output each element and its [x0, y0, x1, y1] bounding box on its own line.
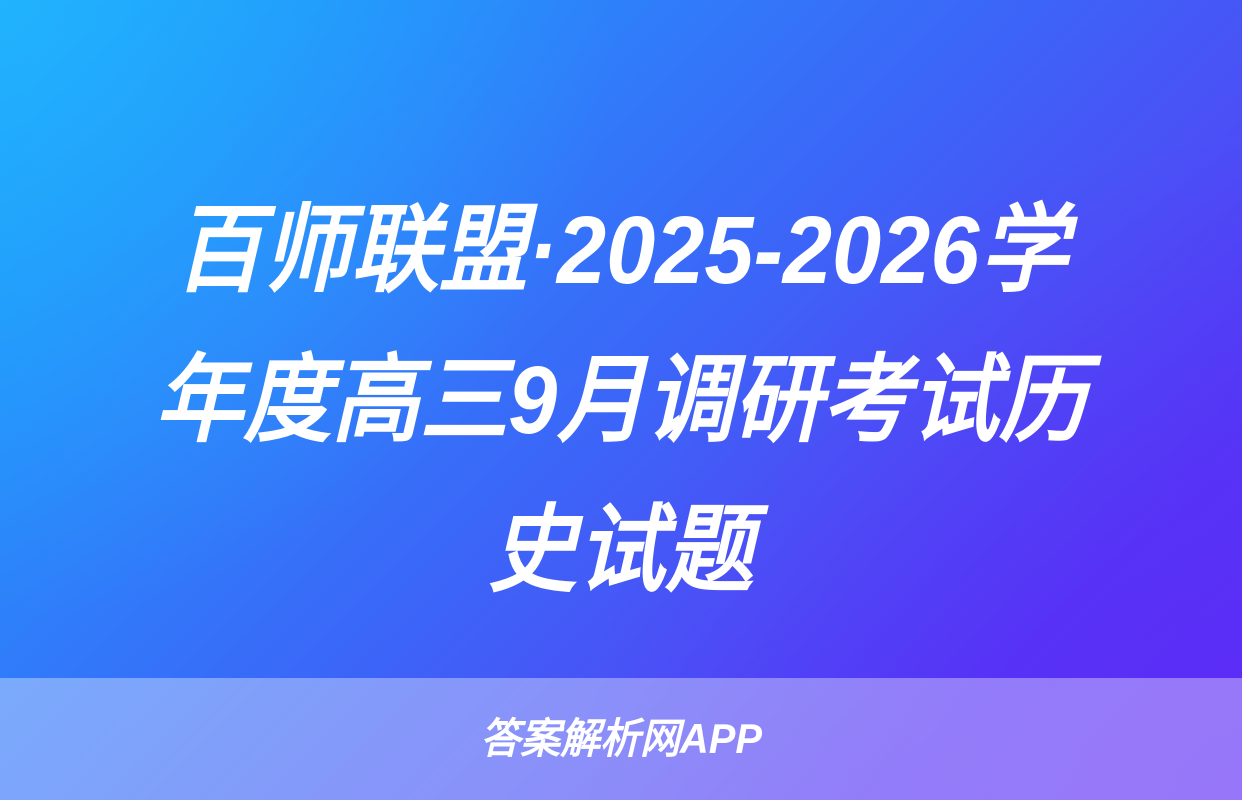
- page-title: 百师联盟·2025-2026学 年度高三9月调研考试历 史试题: [0, 176, 1242, 626]
- poster-cover: 百师联盟·2025-2026学 年度高三9月调研考试历 史试题 答案解析网APP: [0, 0, 1242, 800]
- title-line-1: 百师联盟·2025-2026学: [109, 176, 1134, 326]
- app-watermark-label: 答案解析网APP: [480, 716, 762, 762]
- title-line-3: 史试题: [109, 476, 1134, 626]
- title-line-2: 年度高三9月调研考试历: [109, 326, 1134, 476]
- footer-watermark-band: 答案解析网APP: [0, 678, 1242, 800]
